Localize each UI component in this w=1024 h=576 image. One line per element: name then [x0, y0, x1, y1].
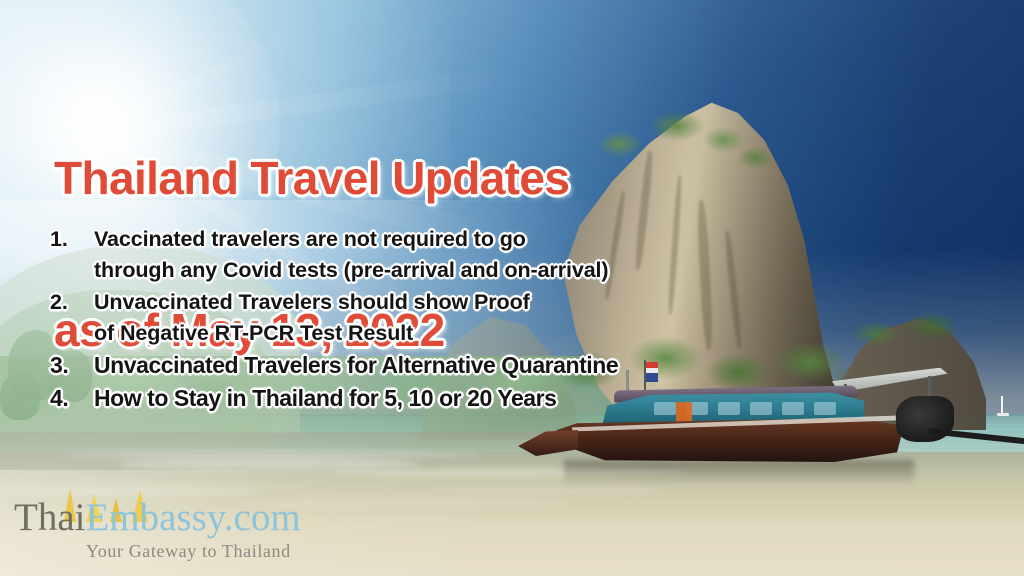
logo-wordmark: ThaiEmbassy.com: [14, 498, 301, 537]
list-item-number: 4.: [50, 383, 94, 414]
updates-list: 1. Vaccinated travelers are not required…: [50, 224, 890, 416]
list-item-line: Vaccinated travelers are not required to…: [94, 224, 890, 255]
list-item-number: 1.: [50, 224, 94, 255]
wave-foam: [120, 458, 420, 470]
list-item-line: Unvaccinated Travelers for Alternative Q…: [94, 350, 890, 381]
banner-canvas: Thailand Travel Updates as of May 13, 20…: [0, 0, 1024, 576]
list-item-body: Unvaccinated Travelers should show Proof…: [94, 287, 890, 348]
list-item-body: How to Stay in Thailand for 5, 10 or 20 …: [94, 383, 890, 414]
list-item: 4. How to Stay in Thailand for 5, 10 or …: [50, 383, 890, 414]
list-item-number: 2.: [50, 287, 94, 318]
list-item-body: Vaccinated travelers are not required to…: [94, 224, 890, 285]
list-item: 2. Unvaccinated Travelers should show Pr…: [50, 287, 890, 348]
list-item-line: How to Stay in Thailand for 5, 10 or 20 …: [94, 383, 890, 414]
list-item: 1. Vaccinated travelers are not required…: [50, 224, 890, 285]
logo-tagline: Your Gateway to Thailand: [86, 541, 291, 562]
boat-reflection: [564, 460, 914, 486]
thaiembassy-logo[interactable]: ThaiEmbassy.com Your Gateway to Thailand: [14, 488, 344, 572]
boat-propeller-shaft: [928, 428, 1024, 465]
logo-embassy-word: Embassy.com: [85, 496, 300, 539]
title-line-1: Thailand Travel Updates: [54, 153, 569, 204]
logo-thai-word: Thai: [14, 496, 85, 539]
list-item-number: 3.: [50, 350, 94, 381]
list-item-line: through any Covid tests (pre-arrival and…: [94, 255, 890, 286]
list-item-body: Unvaccinated Travelers for Alternative Q…: [94, 350, 890, 381]
list-item-line: of Negative RT-PCR Test Result: [94, 318, 890, 349]
palm-tree: [0, 372, 40, 420]
sailboat-hull: [997, 413, 1009, 416]
list-item: 3. Unvaccinated Travelers for Alternativ…: [50, 350, 890, 381]
sailboat-sail: [1001, 396, 1003, 414]
list-item-line: Unvaccinated Travelers should show Proof: [94, 287, 890, 318]
distant-sailboat: [996, 396, 1010, 420]
